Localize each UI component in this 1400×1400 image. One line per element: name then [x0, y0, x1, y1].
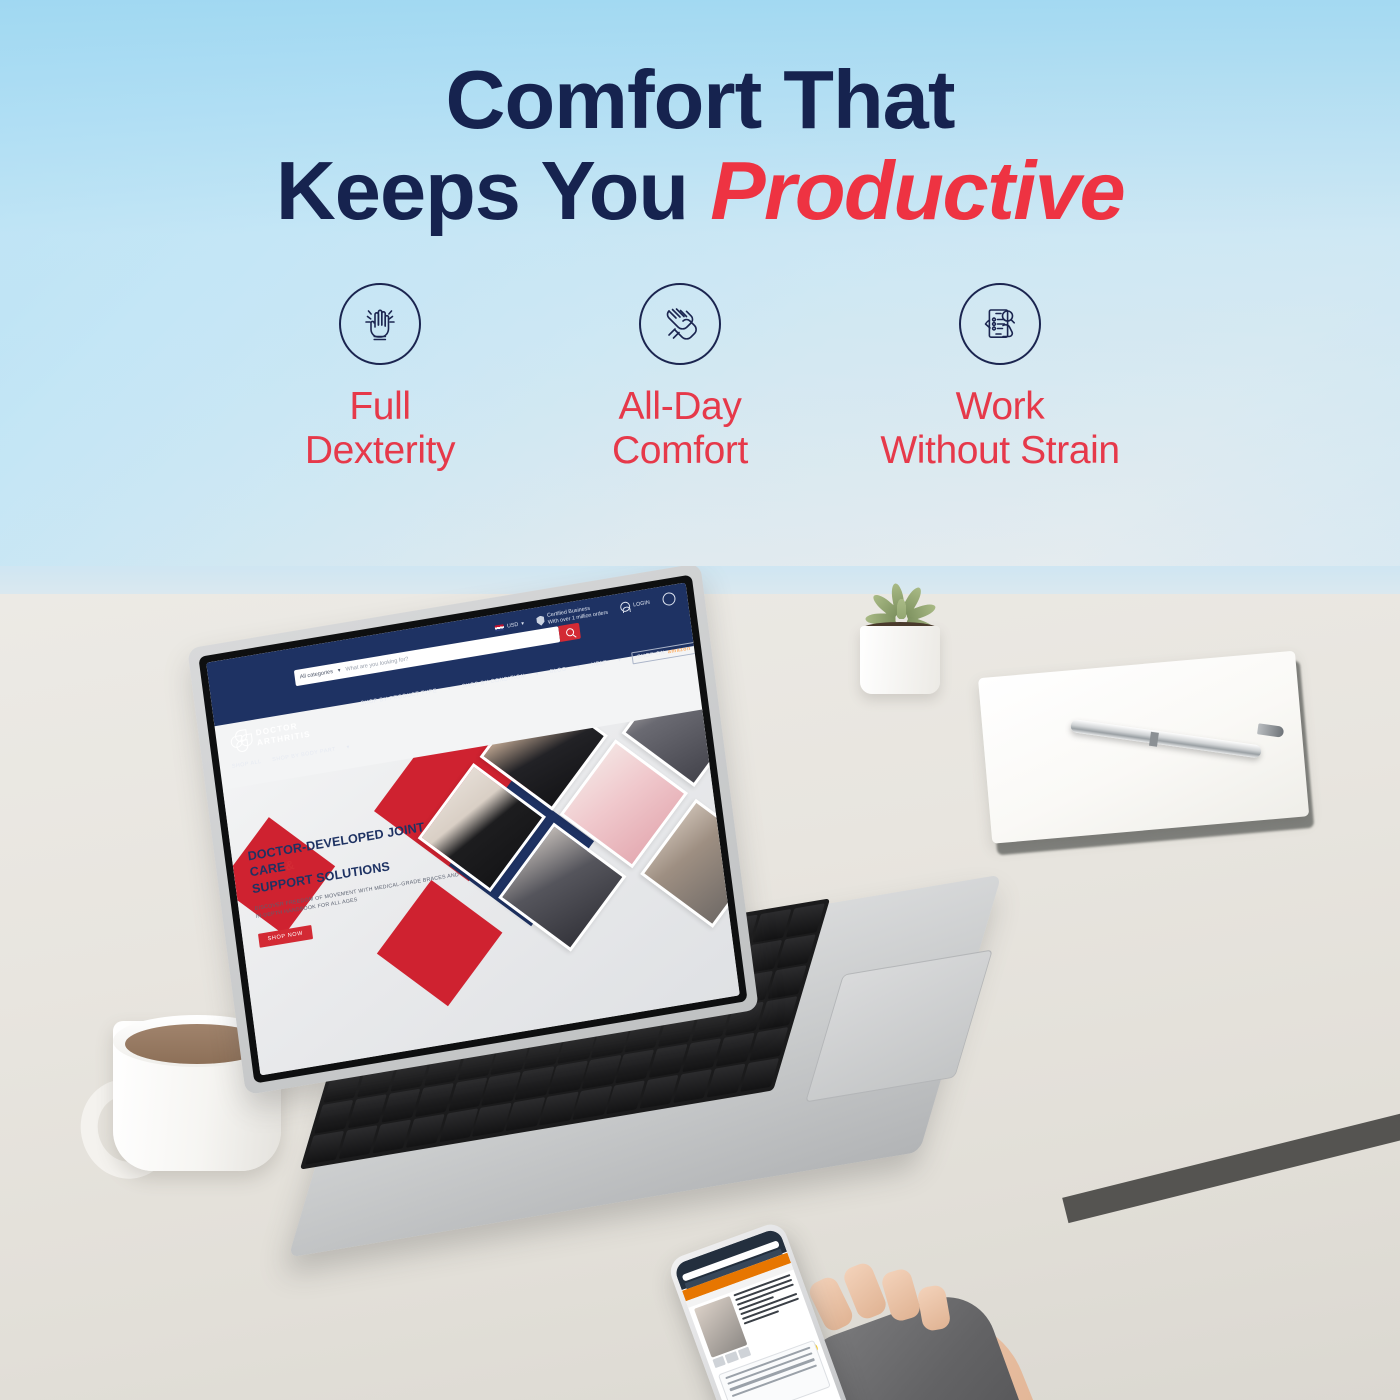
hero-banner: DOCTOR-DEVELOPED JOINT CARE& SUPPORT SOL… — [223, 710, 740, 1076]
product-collage — [415, 710, 740, 1045]
keyboard-key[interactable] — [372, 1120, 411, 1154]
nav-item-blog[interactable]: BLOG — [550, 666, 568, 675]
keyboard-key[interactable] — [405, 1114, 444, 1148]
keyboard-key[interactable] — [414, 1083, 453, 1117]
chevron-down-icon: ▾ — [447, 686, 451, 692]
headline-line-1: Comfort That — [446, 53, 955, 146]
chevron-down-icon: ▾ — [577, 664, 581, 670]
doctor-arthritis-logo-icon — [229, 728, 252, 752]
keyboard-key[interactable] — [673, 1070, 712, 1104]
open-hand-motion-icon — [339, 283, 421, 365]
currency-selector[interactable]: USD ▾ — [495, 621, 524, 632]
keyboard-key[interactable] — [472, 1103, 511, 1137]
doctor-arthritis-website: USD ▾ Certified Business With over 1 mil… — [206, 583, 740, 1076]
site-logo[interactable]: DOCTOR ARTHRITIS — [229, 719, 311, 753]
chevron-down-icon: ▾ — [338, 668, 342, 674]
shop-now-button[interactable]: SHOP NOW — [258, 926, 313, 949]
gloved-hands-icon — [639, 283, 721, 365]
keyboard-key[interactable] — [348, 1094, 387, 1128]
feature-label: Work Without Strain — [880, 385, 1119, 472]
chevron-down-icon: ▾ — [535, 671, 539, 677]
laptop-screen[interactable]: USD ▾ Certified Business With over 1 mil… — [206, 583, 740, 1076]
headline-line-2-plain: Keeps You — [276, 144, 710, 237]
keyboard-key[interactable] — [305, 1131, 344, 1165]
keyboard-key[interactable] — [314, 1100, 353, 1134]
laptop: USD ▾ Certified Business With over 1 mil… — [175, 566, 1015, 1226]
keyboard-key[interactable] — [338, 1125, 377, 1159]
keyboard-key[interactable] — [682, 1039, 721, 1073]
feature-label-line1: Full — [349, 385, 410, 428]
shield-icon — [536, 615, 545, 626]
feature-item-full-dexterity: Full Dexterity — [230, 283, 530, 472]
keyboard-key[interactable] — [639, 1075, 678, 1109]
keyboard-key[interactable] — [381, 1089, 420, 1123]
keyboard-key[interactable] — [715, 1033, 754, 1067]
feature-item-work-without-strain: Work Without Strain — [830, 283, 1170, 472]
poster-canvas: Comfort That Keeps You Productive Full D… — [0, 0, 1400, 1400]
laptop-lid: USD ▾ Certified Business With over 1 mil… — [187, 566, 759, 1095]
amazon-wordmark: amazon — [668, 646, 692, 656]
keyboard-key[interactable] — [776, 934, 815, 968]
feature-label: All-Day Comfort — [612, 385, 748, 472]
cart-icon[interactable] — [662, 592, 677, 607]
keyboard-key[interactable] — [448, 1078, 487, 1112]
keyboard-key[interactable] — [749, 1027, 788, 1061]
keyboard-key[interactable] — [767, 965, 806, 999]
search-category-select[interactable]: All categories — [299, 669, 333, 680]
keyboard-key[interactable] — [481, 1072, 520, 1106]
feature-list: Full Dexterity All-Day Comfort — [0, 283, 1400, 472]
feature-label-line2: Comfort — [612, 429, 748, 472]
keyboard-key[interactable] — [439, 1109, 478, 1143]
chevron-down-icon: ▾ — [346, 744, 350, 750]
login-label: LOGIN — [633, 599, 650, 608]
feature-item-all-day-comfort: All-Day Comfort — [530, 283, 830, 472]
nav-item-shop-all[interactable]: SHOP ALL — [232, 759, 262, 770]
laptop-bezel: USD ▾ Certified Business With over 1 mil… — [198, 574, 747, 1083]
keyboard-key[interactable] — [740, 1058, 779, 1092]
headline-line-2: Keeps You Productive — [0, 149, 1400, 234]
hand-holding-checklist-icon — [959, 283, 1041, 365]
page-title: Comfort That Keeps You Productive — [0, 58, 1400, 233]
feature-label-line2: Without Strain — [880, 429, 1119, 472]
search-button[interactable] — [558, 623, 581, 642]
nav-item-shop-by-body-part[interactable]: SHOP BY BODY PART — [272, 747, 336, 764]
keyboard-key[interactable] — [785, 903, 824, 937]
feature-label-line1: Work — [956, 385, 1045, 428]
us-flag-icon — [495, 624, 505, 631]
chevron-down-icon: ▾ — [618, 657, 622, 663]
search-icon — [565, 628, 574, 637]
right-arm — [790, 1266, 1350, 1400]
person-icon — [620, 601, 631, 613]
feature-label-line2: Dexterity — [305, 429, 455, 472]
feature-label: Full Dexterity — [305, 385, 455, 472]
feature-label-line1: All-Day — [619, 385, 742, 428]
keyboard-key[interactable] — [706, 1064, 745, 1098]
keyboard-key[interactable] — [758, 996, 797, 1030]
headline-accent-word: Productive — [710, 144, 1124, 237]
keyboard-key[interactable] — [648, 1044, 687, 1078]
hero-title-amp: & — [285, 858, 296, 873]
chevron-down-icon: ▾ — [521, 621, 524, 627]
nav-item-help[interactable]: HELP — [591, 660, 608, 669]
desk-scene: USD ▾ Certified Business With over 1 mil… — [0, 566, 1400, 1400]
currency-label: USD — [507, 621, 519, 629]
shop-on-amazon-prefix: SHOP ON — [637, 650, 666, 661]
keyboard-key[interactable] — [752, 909, 791, 943]
notebook — [978, 650, 1314, 852]
